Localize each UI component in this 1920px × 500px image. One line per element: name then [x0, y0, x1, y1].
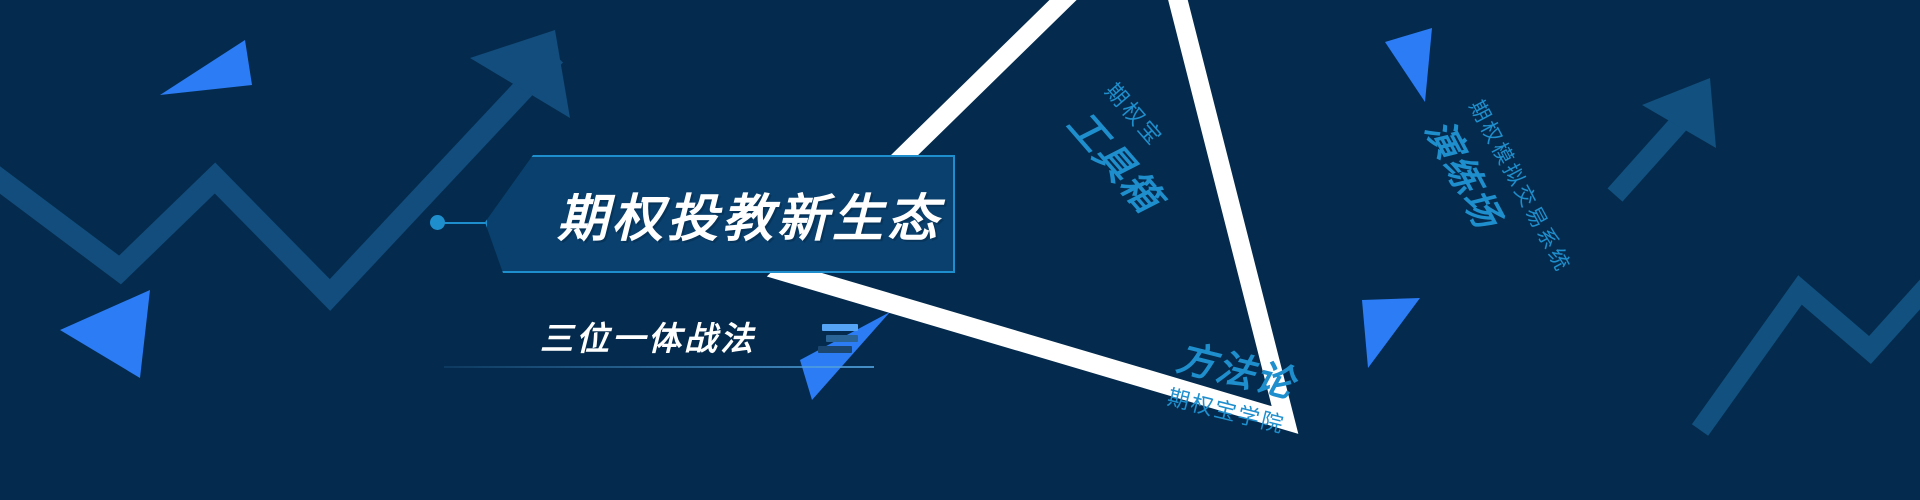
subtitle-divider — [444, 366, 874, 368]
descending-bars-icon — [810, 324, 858, 356]
headline-panel: 期权投教新生态 — [485, 155, 955, 273]
subtitle-text: 三位一体战法 — [540, 312, 756, 360]
connector-line — [443, 222, 489, 224]
triangle-outline — [0, 0, 1920, 500]
page-title: 期权投教新生态 — [557, 177, 942, 251]
subtitle-group: 三位一体战法 — [540, 312, 960, 382]
promo-banner: 期权投教新生态 三位一体战法 期权宝 工具箱 期权模拟交易系统 演练场 方法论 … — [0, 0, 1920, 500]
headline-group: 期权投教新生态 — [430, 155, 950, 300]
